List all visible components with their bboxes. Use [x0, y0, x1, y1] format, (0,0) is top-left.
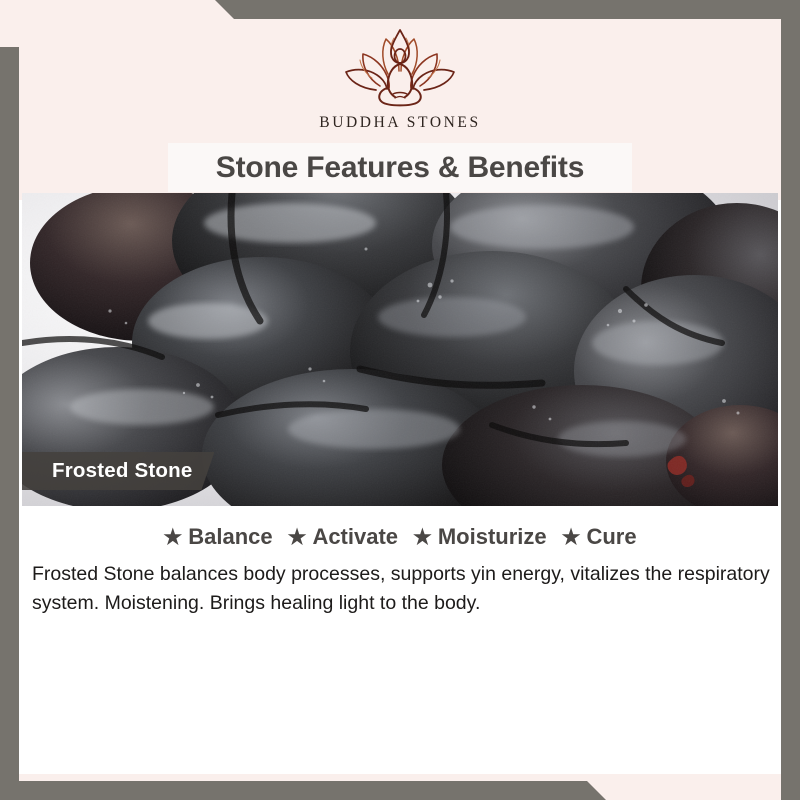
benefit-label: Cure	[586, 524, 636, 550]
benefit-label: Moisturize	[438, 524, 547, 550]
frame-border-left	[0, 47, 19, 800]
benefit-item-activate: ★ Activate	[288, 524, 398, 550]
frame-border-right	[781, 0, 800, 800]
brand-lockup: BUDDHA STONES	[0, 26, 800, 132]
benefit-item-cure: ★ Cure	[562, 524, 637, 550]
page-title: Stone Features & Benefits	[216, 151, 584, 185]
star-icon: ★	[413, 527, 432, 548]
brand-name: BUDDHA STONES	[319, 114, 480, 132]
hero-caption-chip: Frosted Stone	[22, 452, 214, 490]
product-info-poster: BUDDHA STONES Stone Features & Benefits	[0, 0, 800, 800]
lotus-meditation-figure-icon	[341, 26, 459, 108]
title-banner: Stone Features & Benefits	[168, 143, 632, 192]
benefit-label: Activate	[312, 524, 398, 550]
star-icon: ★	[288, 527, 307, 548]
benefit-item-balance: ★ Balance	[163, 524, 272, 550]
star-icon: ★	[163, 527, 182, 548]
benefits-row: ★ Balance ★ Activate ★ Moisturize ★ Cure	[0, 524, 800, 550]
star-icon: ★	[562, 527, 581, 548]
benefit-label: Balance	[188, 524, 272, 550]
hero-caption-label: Frosted Stone	[52, 459, 192, 483]
description-text: Frosted Stone balances body processes, s…	[32, 560, 770, 618]
benefit-item-moisturize: ★ Moisturize	[413, 524, 547, 550]
